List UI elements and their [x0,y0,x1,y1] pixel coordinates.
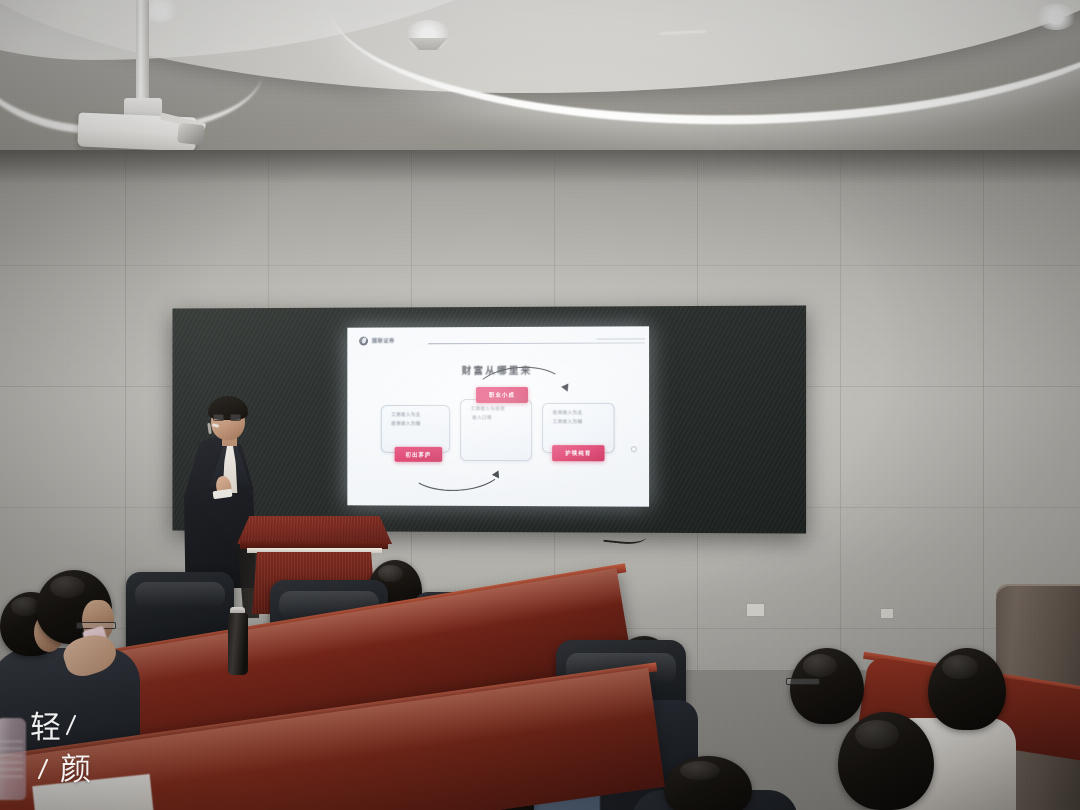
projector-lens [177,123,205,146]
slide-bullet: 收入口增 [467,414,527,423]
wall-socket-b [880,608,894,619]
audience-head [838,712,934,810]
slide-header: 国联证券 [359,332,639,347]
company-logo-text: 国联证券 [372,337,395,344]
slide-header-rule-secondary [596,338,645,339]
lectern-top [237,516,392,544]
projector-mount-pole [136,0,149,108]
audience-glasses [786,678,820,685]
conference-room-photo: 国联证券 财富从哪里来 工资收入为主 投资收入为辅 工资收入与投资 收入口增 投… [0,0,1080,810]
thermos-flask [228,613,248,675]
cycle-arrow-top-head [561,384,571,394]
slide-badge-right: 护犊纯育 [552,445,604,461]
presentation-slide: 国联证券 财富从哪里来 工资收入为主 投资收入为辅 工资收入与投资 收入口增 投… [347,326,649,506]
water-bottle [0,718,26,800]
slide-box-middle: 工资收入与投资 收入口增 [460,399,532,461]
slide-badge-top: 职业小成 [476,387,528,403]
slide-bullet: 工资收入为主 [388,411,445,420]
slide-bullet: 投资收入为主 [549,409,609,418]
audience-head [790,648,864,724]
ceiling-spotlight-right [1036,4,1076,30]
audience-head [928,648,1006,730]
slide-decorative-circle [631,446,637,452]
curved-led-light-strip [329,0,1080,133]
slide-bullet: 工资收入与投资 [467,405,527,414]
slide-badge-left: 初出茅庐 [395,447,443,462]
wall-socket-a [746,603,765,617]
slide-bullet: 工资收入为辅 [549,418,609,427]
slide-bullet: 投资收入为辅 [388,420,445,429]
speaker-glasses [213,414,243,421]
slide-box-left: 工资收入为主 投资收入为辅 [381,405,450,453]
company-logo-icon [359,336,368,345]
